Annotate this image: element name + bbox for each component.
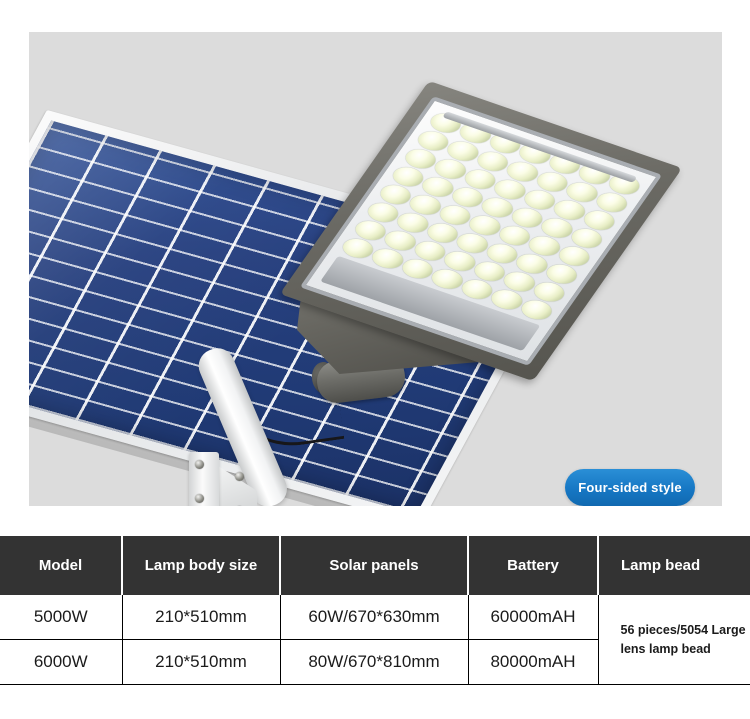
bolt-icon [195, 460, 204, 469]
column-header-model: Model [0, 536, 122, 595]
bolt-icon [235, 472, 244, 481]
column-header-solar-panels: Solar panels [280, 536, 468, 595]
product-photo: Four-sided style [29, 32, 722, 506]
column-header-battery: Battery [468, 536, 598, 595]
cell-lamp-body-size: 210*510mm [122, 595, 280, 640]
column-header-lamp-body-size: Lamp body size [122, 536, 280, 595]
wall-mount-bracket [189, 452, 219, 506]
table-row: 5000W 210*510mm 60W/670*630mm 60000mAH 5… [0, 595, 750, 640]
cell-lamp-body-size: 210*510mm [122, 640, 280, 685]
column-header-lamp-bead: Lamp bead [598, 536, 750, 595]
table-header-row: Model Lamp body size Solar panels Batter… [0, 536, 750, 595]
cell-battery: 80000mAH [468, 640, 598, 685]
cell-battery: 60000mAH [468, 595, 598, 640]
cell-lamp-bead: 56 pieces/5054 Large lens lamp bead [598, 595, 750, 685]
cell-solar-panels: 80W/670*810mm [280, 640, 468, 685]
specification-table: Model Lamp body size Solar panels Batter… [0, 536, 750, 685]
style-badge: Four-sided style [565, 469, 695, 506]
bolt-icon [195, 494, 204, 503]
cell-model: 5000W [0, 595, 122, 640]
cell-model: 6000W [0, 640, 122, 685]
cell-solar-panels: 60W/670*630mm [280, 595, 468, 640]
